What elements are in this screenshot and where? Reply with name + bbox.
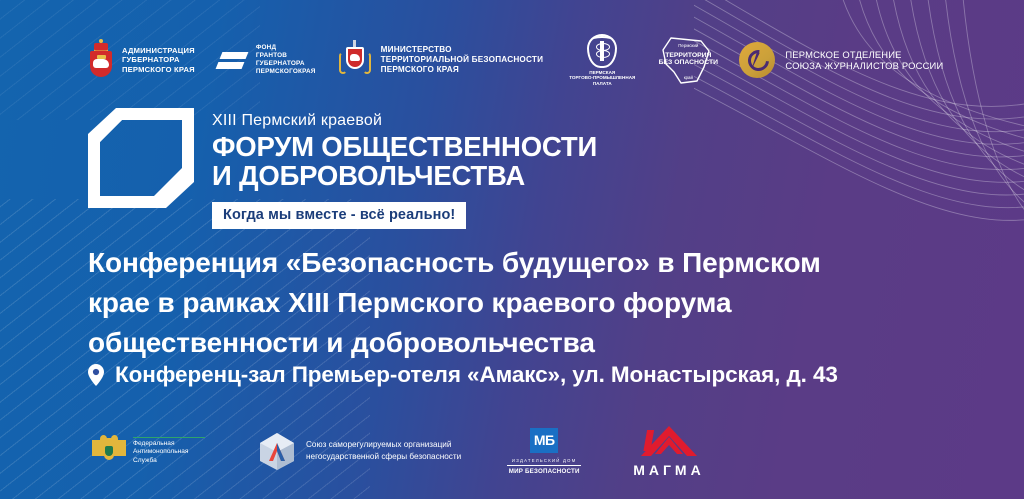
partner-label-line: ИЗДАТЕЛЬСКИЙ ДОМ bbox=[512, 458, 577, 463]
partner-logo-ministry-territorial-security: МИНИСТЕРСТВО ТЕРРИТОРИАЛЬНОЙ БЕЗОПАСНОСТ… bbox=[338, 40, 544, 80]
partner-logo-perm-chamber-of-commerce: ПЕРМСКАЯ ТОРГОВО-ПРОМЫШЛЕННАЯ ПАЛАТА bbox=[569, 34, 635, 87]
partner-label-line: АДМИНИСТРАЦИЯ bbox=[122, 46, 195, 55]
partner-label-line: ПЕРМСКОЕ ОТДЕЛЕНИЕ bbox=[785, 49, 943, 60]
perm-coat-of-arms-icon bbox=[88, 43, 114, 77]
partner-label-line: ПЕРМСКОГО КРАЯ bbox=[122, 65, 195, 74]
cube-delta-icon bbox=[257, 431, 297, 471]
ministry-emblem-icon bbox=[338, 40, 372, 80]
partner-logo-sro-union-nonstate-security: Союз саморегулируемых организаций негосу… bbox=[257, 431, 461, 471]
partner-logo-governor-grants-fund: ФОНД ГРАНТОВ ГУБЕРНАТОРА ПЕРМСКОГОКРАЯ bbox=[217, 44, 316, 76]
partner-label-line: край bbox=[657, 75, 719, 80]
venue-text: Конференц-зал Премьер-отеля «Амакс», ул.… bbox=[115, 362, 838, 388]
pen-circle-icon bbox=[739, 42, 775, 78]
partner-label-line: ПАЛАТА bbox=[569, 81, 635, 87]
partner-label-line: ГРАНТОВ bbox=[256, 52, 316, 60]
partner-label-line: ТЕРРИТОРИЯ bbox=[657, 52, 719, 59]
partner-label-line: ПЕРМСКОГО КРАЯ bbox=[381, 65, 544, 75]
partner-logo-administration-governor: АДМИНИСТРАЦИЯ ГУБЕРНАТОРА ПЕРМСКОГО КРАЯ bbox=[88, 43, 195, 77]
top-partner-logo-strip: АДМИНИСТРАЦИЯ ГУБЕРНАТОРА ПЕРМСКОГО КРАЯ… bbox=[88, 31, 943, 89]
forum-square-mark-icon bbox=[88, 108, 194, 208]
event-banner: АДМИНИСТРАЦИЯ ГУБЕРНАТОРА ПЕРМСКОГО КРАЯ… bbox=[0, 0, 1024, 499]
magma-triangle-icon bbox=[639, 425, 699, 457]
location-pin-icon bbox=[88, 364, 104, 386]
partner-label-line: ПЕРМСКОГОКРАЯ bbox=[256, 68, 316, 76]
partner-label-line: Антимонопольная bbox=[133, 448, 205, 457]
venue-line: Конференц-зал Премьер-отеля «Амакс», ул.… bbox=[88, 362, 838, 388]
forum-tagline-badge: Когда мы вместе - всё реально! bbox=[212, 202, 466, 229]
forum-kicker: XIII Пермский краевой bbox=[212, 112, 597, 130]
magma-wordmark: МАГМА bbox=[633, 462, 704, 478]
partner-label-line: ГУБЕРНАТОРА bbox=[256, 60, 316, 68]
partner-logo-magma: МАГМА bbox=[633, 425, 704, 478]
mb-monogram-icon: МБ bbox=[530, 428, 558, 453]
forum-title: ФОРУМ ОБЩЕСТВЕННОСТИ И ДОБРОВОЛЬЧЕСТВА bbox=[212, 132, 597, 191]
grants-fund-icon bbox=[217, 44, 247, 76]
partner-label-line: МИР БЕЗОПАСНОСТИ bbox=[509, 468, 580, 475]
partner-label-line: МИНИСТЕРСТВО bbox=[381, 45, 544, 55]
partner-label-line: Федеральная bbox=[133, 440, 205, 449]
caduceus-icon bbox=[587, 34, 617, 68]
partner-logo-territory-without-danger: Пермский ТЕРРИТОРИЯ БЕЗ ОПАСНОСТИ край bbox=[657, 34, 719, 86]
partner-label-line: ГУБЕРНАТОРА bbox=[122, 55, 195, 64]
divider bbox=[133, 437, 205, 438]
partner-label-line: БЕЗ ОПАСНОСТИ bbox=[657, 59, 719, 66]
partner-label-line: негосударственной сферы безопасности bbox=[306, 451, 461, 463]
partner-logo-mir-bezopasnosti-publishing: МБ ИЗДАТЕЛЬСКИЙ ДОМ МИР БЕЗОПАСНОСТИ bbox=[507, 428, 581, 475]
partner-logo-federal-antimonopoly-service: Федеральная Антимонопольная Служба bbox=[92, 435, 205, 467]
partner-label-line: Служба bbox=[133, 457, 205, 466]
partner-label-line: Союз саморегулируемых организаций bbox=[306, 439, 461, 451]
double-headed-eagle-icon bbox=[92, 435, 126, 467]
partner-label-line: ФОНД bbox=[256, 44, 316, 52]
event-headline: Конференция «Безопасность будущего» в Пе… bbox=[88, 243, 918, 362]
divider bbox=[507, 465, 581, 466]
forum-logo-lockup: XIII Пермский краевой ФОРУМ ОБЩЕСТВЕННОС… bbox=[88, 108, 597, 229]
bottom-partner-logo-strip: Федеральная Антимонопольная Служба Союз … bbox=[92, 420, 705, 482]
partner-label-line: СОЮЗА ЖУРНАЛИСТОВ РОССИИ bbox=[785, 60, 943, 71]
partner-logo-perm-journalists-union: ПЕРМСКОЕ ОТДЕЛЕНИЕ СОЮЗА ЖУРНАЛИСТОВ РОС… bbox=[739, 42, 943, 78]
partner-label-line: ТОРГОВО-ПРОМЫШЛЕННАЯ bbox=[569, 75, 635, 81]
partner-label-line: Пермский bbox=[657, 43, 719, 48]
partner-label-line: ТЕРРИТОРИАЛЬНОЙ БЕЗОПАСНОСТИ bbox=[381, 55, 544, 65]
